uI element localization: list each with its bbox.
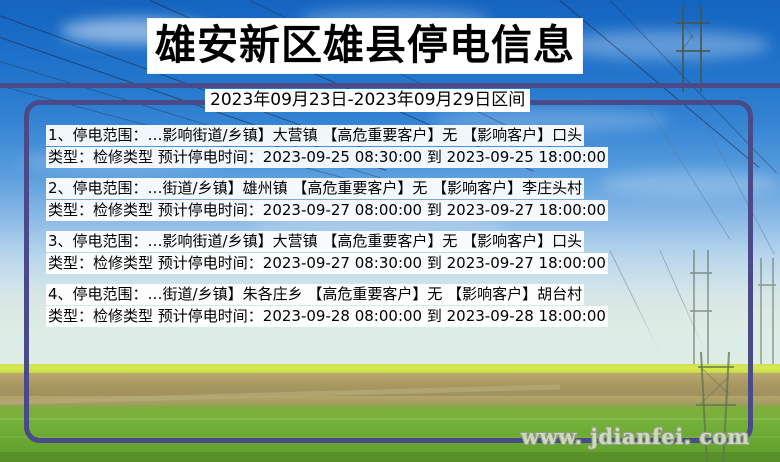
transmission-pylon: [676, 6, 710, 92]
outage-entry: 3、停电范围：…影响街道/乡镇】大营镇 【高危重要客户】无 【影响客户】口头 类…: [46, 231, 746, 274]
page-title-text: 雄安新区雄县停电信息: [155, 20, 575, 70]
outage-entry-list: 1、停电范围：…影响街道/乡镇】大营镇 【高危重要客户】无 【影响客户】口头 类…: [46, 125, 746, 337]
transmission-pylon: [758, 258, 776, 366]
field-shadow: [0, 452, 780, 462]
page-title: 雄安新区雄县停电信息: [148, 19, 582, 73]
cloud-wisp: [560, 30, 770, 60]
site-watermark: www. jdianfei. com: [521, 424, 750, 449]
outage-entry-scope: 3、停电范围：…影响街道/乡镇】大营镇 【高危重要客户】无 【影响客户】口头: [46, 231, 584, 252]
outage-entry-schedule: 类型：检修类型 预计停电时间：2023-09-28 08:00:00 到 202…: [46, 306, 608, 327]
outage-entry-scope: 1、停电范围：…影响街道/乡镇】大营镇 【高危重要客户】无 【影响客户】口头: [46, 125, 584, 146]
outage-entry-schedule: 类型：检修类型 预计停电时间：2023-09-27 08:00:00 到 202…: [46, 200, 608, 221]
outage-entry-scope: 4、停电范围：…街道/乡镇】朱各庄乡 【高危重要客户】无 【影响客户】胡台村: [46, 284, 584, 305]
top-divider-rule: [0, 83, 780, 88]
poster-canvas: 雄安新区雄县停电信息 2023年09月23日-2023年09月29日区间 1、停…: [0, 0, 780, 462]
outage-entry: 1、停电范围：…影响街道/乡镇】大营镇 【高危重要客户】无 【影响客户】口头 类…: [46, 125, 746, 168]
outage-entry-schedule: 类型：检修类型 预计停电时间：2023-09-25 08:30:00 到 202…: [46, 147, 608, 168]
date-range-text: 2023年09月23日-2023年09月29日区间: [210, 89, 525, 111]
outage-entry: 2、停电范围：…街道/乡镇】雄州镇 【高危重要客户】无 【影响客户】李庄头村 类…: [46, 178, 746, 221]
outage-entry-schedule: 类型：检修类型 预计停电时间：2023-09-27 08:30:00 到 202…: [46, 253, 608, 274]
outage-entry-scope: 2、停电范围：…街道/乡镇】雄州镇 【高危重要客户】无 【影响客户】李庄头村: [46, 178, 584, 199]
outage-entry: 4、停电范围：…街道/乡镇】朱各庄乡 【高危重要客户】无 【影响客户】胡台村 类…: [46, 284, 746, 327]
date-range-banner: 2023年09月23日-2023年09月29日区间: [205, 89, 530, 112]
